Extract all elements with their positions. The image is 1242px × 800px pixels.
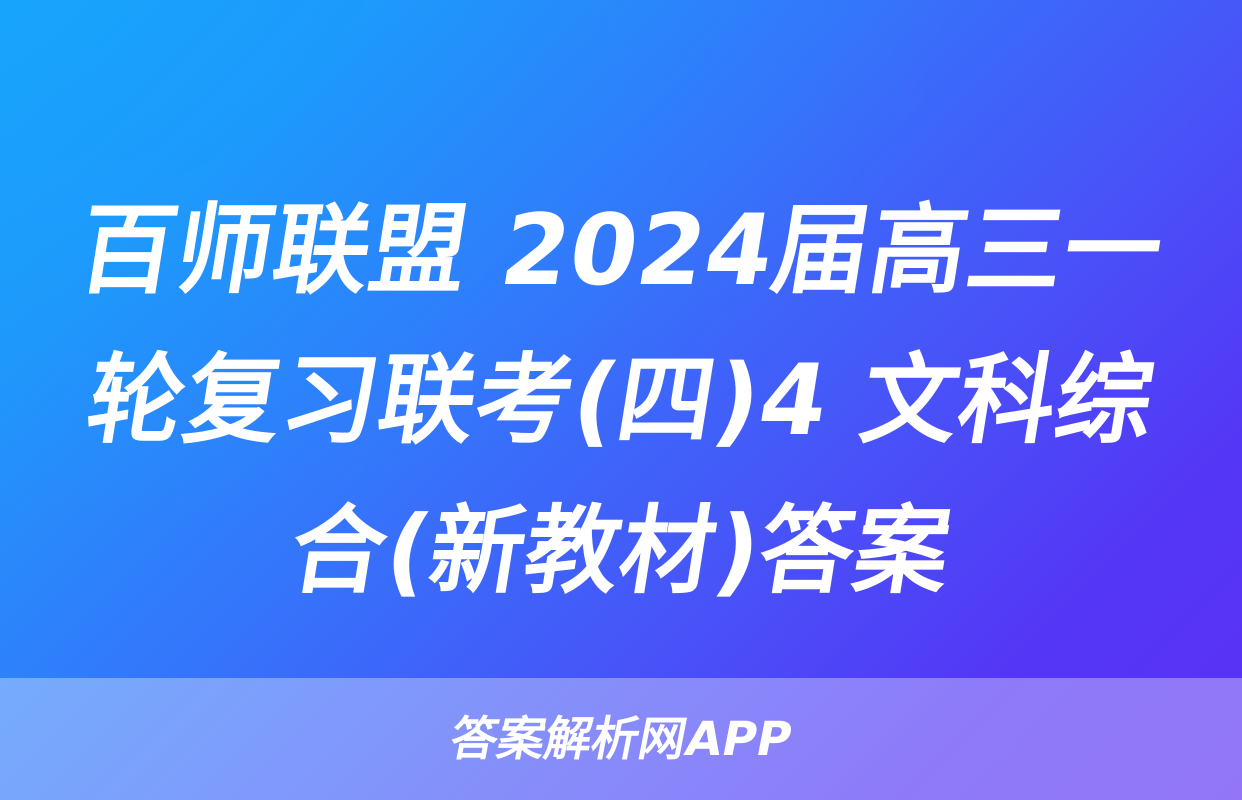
title-line-1: 百师联盟 2024届高三一: [61, 176, 1180, 326]
page-title: 百师联盟 2024届高三一 轮复习联考(四)4 文科综 合(新教材)答案: [0, 176, 1242, 626]
title-line-3: 合(新教材)答案: [61, 476, 1180, 626]
poster-canvas: 百师联盟 2024届高三一 轮复习联考(四)4 文科综 合(新教材)答案 答案解…: [0, 0, 1242, 800]
app-watermark-label: 答案解析网APP: [446, 716, 795, 763]
footer-banner: 答案解析网APP: [0, 678, 1242, 800]
title-line-2: 轮复习联考(四)4 文科综: [61, 326, 1180, 476]
